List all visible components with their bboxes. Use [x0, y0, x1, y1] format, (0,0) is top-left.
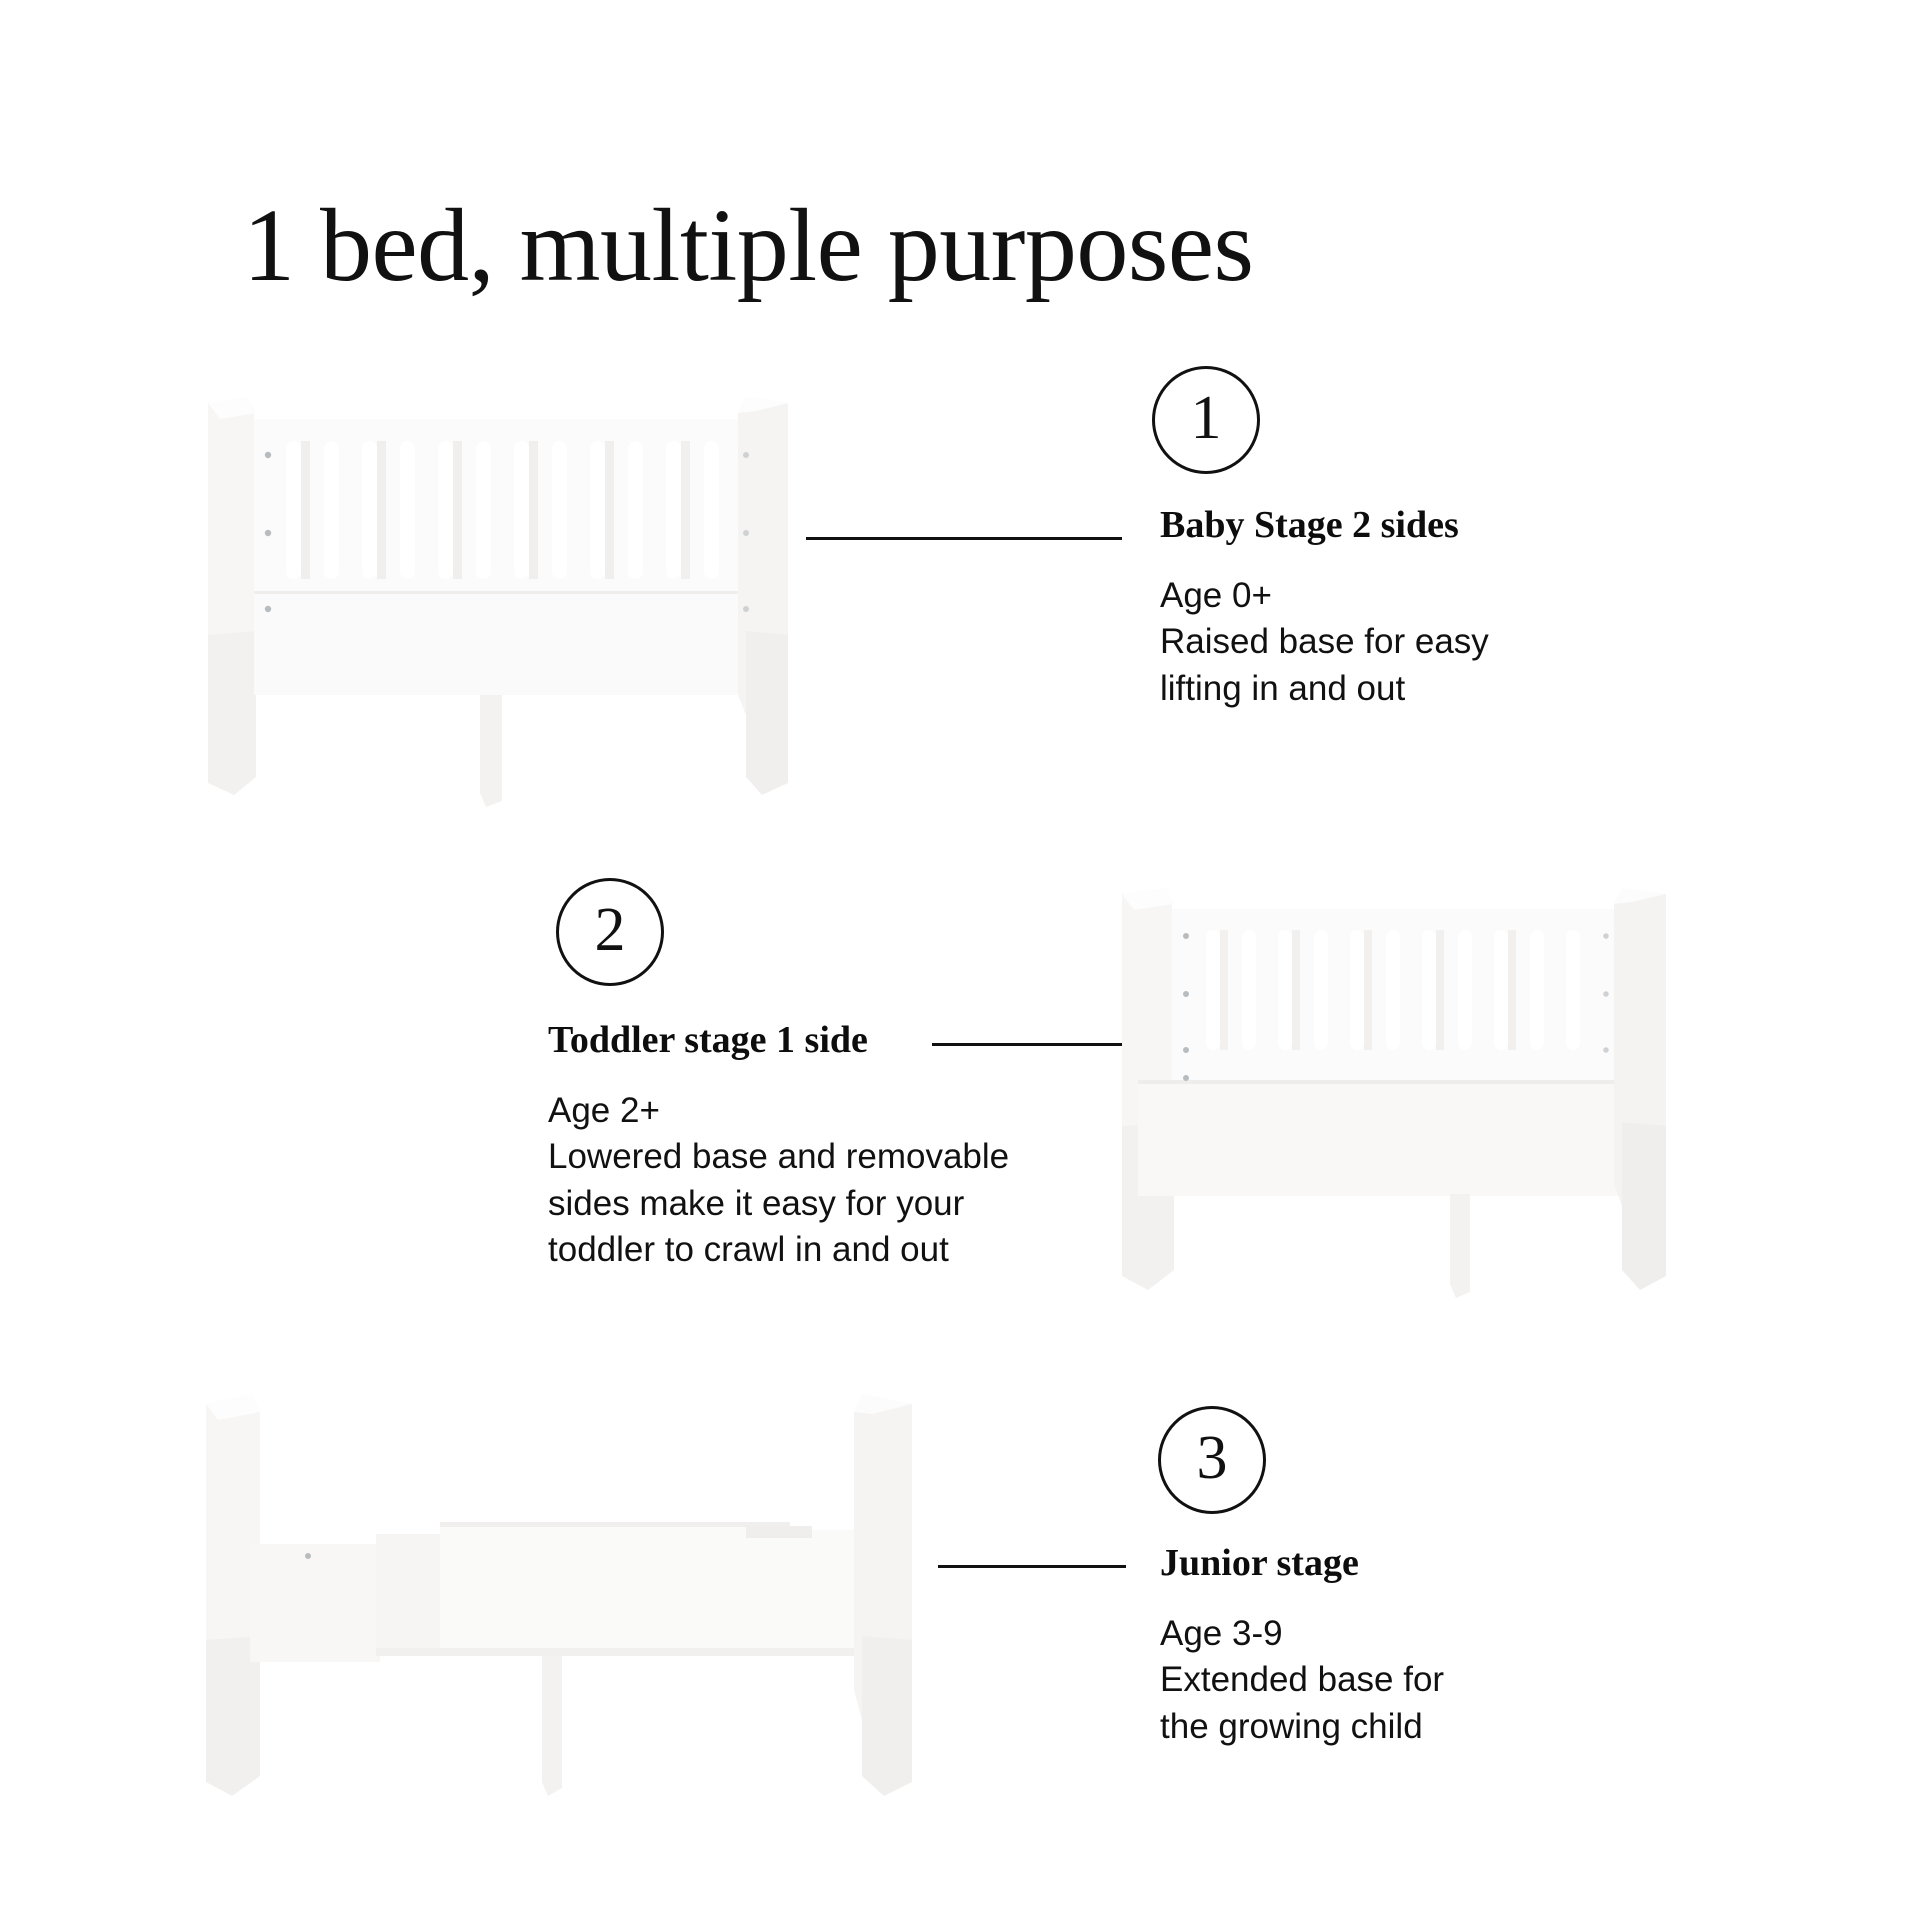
stage-body-line: Lowered base and removable	[548, 1134, 1009, 1181]
stage-body-line: Raised base for easy	[1160, 619, 1489, 666]
stage-body-baby: Age 0+ Raised base for easy lifting in a…	[1160, 573, 1489, 713]
stage-badge-2: 2	[556, 878, 664, 986]
stage-text-baby: Baby Stage 2 sides Age 0+ Raised base fo…	[1160, 505, 1489, 712]
bed-illustration-junior-stage	[190, 1390, 950, 1810]
stage-body-line: Age 3-9	[1160, 1611, 1444, 1658]
stage-heading-junior: Junior stage	[1160, 1543, 1444, 1585]
leader-line-baby-stage	[806, 537, 1122, 540]
stage-badge-3: 3	[1158, 1406, 1266, 1514]
stage-body-line: Extended base for	[1160, 1657, 1444, 1704]
infographic-canvas: 1 bed, multiple purposes	[0, 0, 1920, 1920]
stage-text-junior: Junior stage Age 3-9 Extended base for t…	[1160, 1543, 1444, 1750]
page-title: 1 bed, multiple purposes	[243, 190, 1254, 302]
stage-body-line: sides make it easy for your	[548, 1181, 1009, 1228]
stage-heading-baby: Baby Stage 2 sides	[1160, 505, 1489, 547]
stage-body-line: Age 0+	[1160, 573, 1489, 620]
stage-body-line: Age 2+	[548, 1088, 1009, 1135]
leader-line-junior-stage	[938, 1565, 1126, 1568]
stage-body-line: toddler to crawl in and out	[548, 1227, 1009, 1274]
bed-illustration-toddler-stage	[1110, 888, 1730, 1308]
bed-illustration-baby-stage	[190, 395, 810, 815]
stage-heading-toddler: Toddler stage 1 side	[548, 1020, 1009, 1062]
stage-body-line: the growing child	[1160, 1704, 1444, 1751]
stage-body-junior: Age 3-9 Extended base for the growing ch…	[1160, 1611, 1444, 1751]
stage-text-toddler: Toddler stage 1 side Age 2+ Lowered base…	[548, 1020, 1009, 1274]
stage-body-toddler: Age 2+ Lowered base and removable sides …	[548, 1088, 1009, 1274]
stage-body-line: lifting in and out	[1160, 666, 1489, 713]
stage-badge-1: 1	[1152, 366, 1260, 474]
